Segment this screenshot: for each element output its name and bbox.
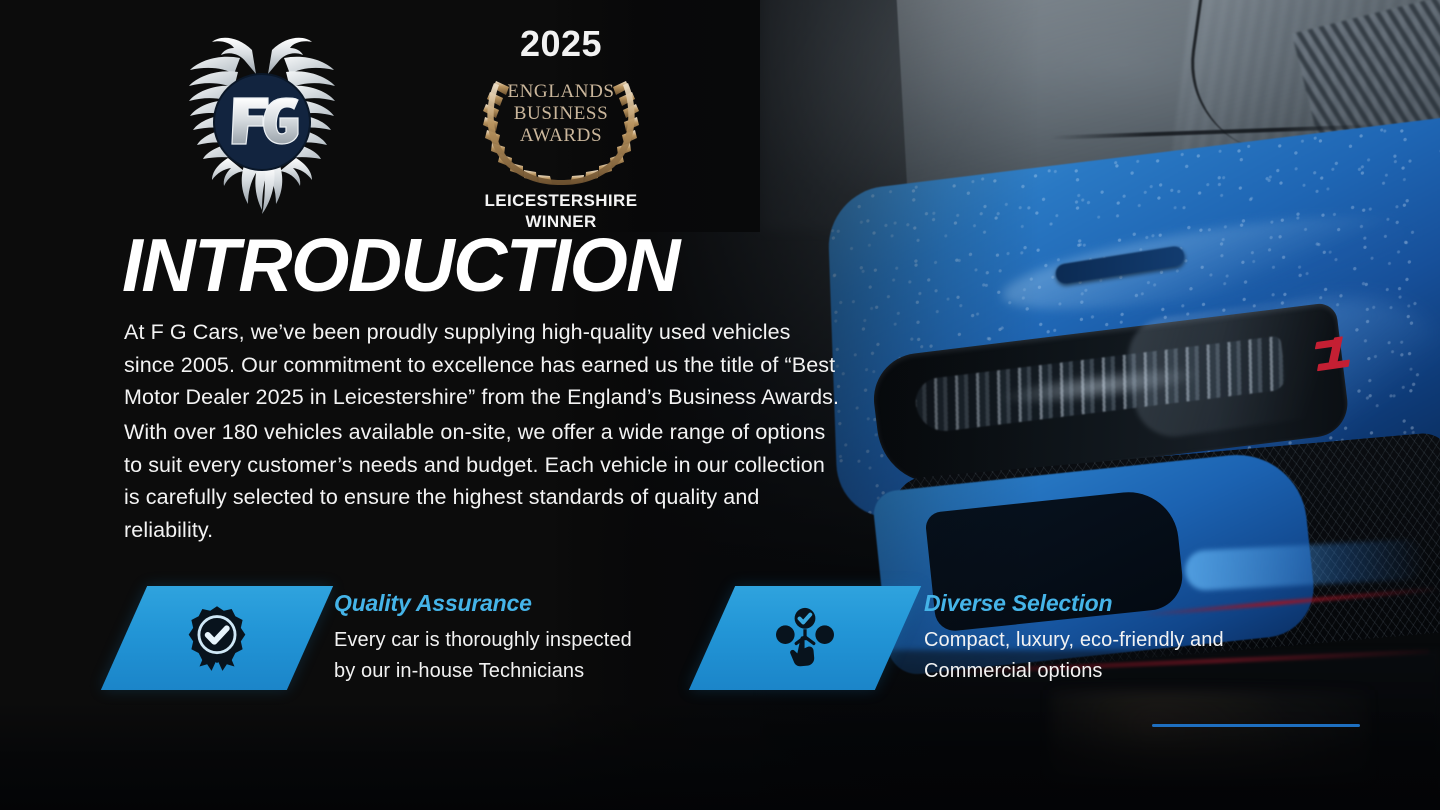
laurel-wreath-icon: ENGLANDS BUSINESS AWARDS	[466, 67, 656, 187]
feature-quality-assurance: Quality Assurance Every car is thoroughl…	[124, 586, 634, 690]
award-org-line-3: AWARDS	[466, 125, 656, 147]
quality-badge-check-icon	[124, 586, 310, 690]
feature-icon-tile	[101, 586, 333, 690]
intro-paragraph-1: At F G Cars, we’ve been proudly supplyin…	[124, 316, 846, 414]
fg-eagle-crest-logo-icon	[168, 18, 356, 223]
feature-description: Every car is thoroughly inspected by our…	[334, 625, 634, 687]
award-location: LEICESTERSHIRE	[466, 191, 656, 212]
feature-text-block: Diverse Selection Compact, luxury, eco-f…	[924, 586, 1314, 687]
accent-rule	[1152, 724, 1360, 727]
award-year: 2025	[466, 26, 656, 62]
feature-icon-tile	[689, 586, 921, 690]
feature-diverse-selection: Diverse Selection Compact, luxury, eco-f…	[712, 586, 1314, 690]
award-badge: 2025	[466, 22, 656, 227]
award-org-line-1: ENGLANDS	[466, 81, 656, 103]
award-organisation: ENGLANDS BUSINESS AWARDS	[466, 81, 656, 148]
intro-body: At F G Cars, we’ve been proudly supplyin…	[124, 316, 846, 547]
feature-title: Diverse Selection	[924, 592, 1314, 615]
intro-paragraph-2: With over 180 vehicles available on-site…	[124, 416, 846, 547]
slide-introduction: 2025	[0, 0, 1440, 810]
award-org-line-2: BUSINESS	[466, 103, 656, 125]
feature-description: Compact, luxury, eco-friendly and Commer…	[924, 625, 1314, 687]
select-options-hand-icon	[712, 586, 898, 690]
feature-title: Quality Assurance	[334, 592, 634, 615]
page-title: INTRODUCTION	[122, 228, 679, 303]
feature-text-block: Quality Assurance Every car is thoroughl…	[334, 586, 634, 687]
